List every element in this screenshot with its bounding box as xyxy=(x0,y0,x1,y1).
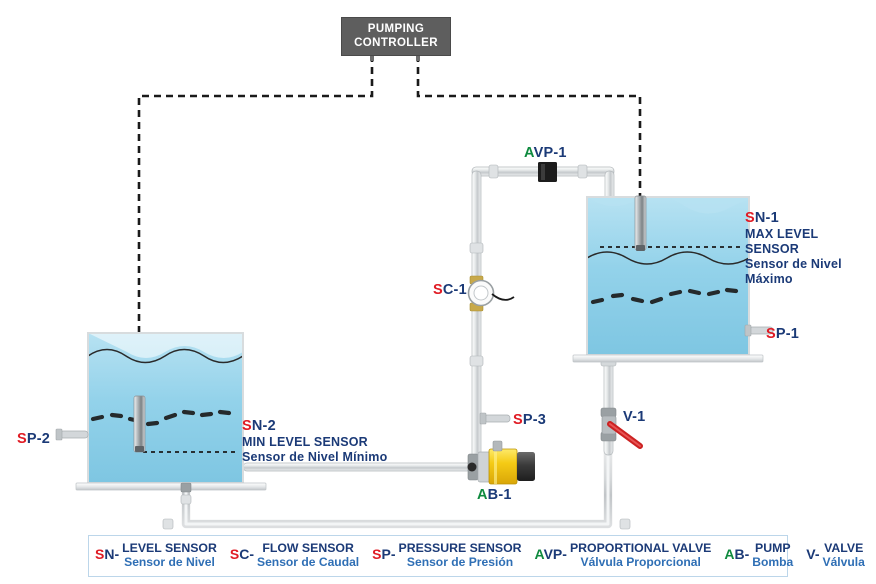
controller-title-line1: PUMPING xyxy=(354,23,438,37)
legend: SN-LEVEL SENSORSensor de NivelSC-FLOW SE… xyxy=(88,535,788,577)
legend-code-prefix: S xyxy=(372,546,381,562)
legend-item-v: V-VALVEVálvula xyxy=(806,542,865,569)
sp1-tag: SP-1 xyxy=(766,326,799,343)
legend-code-rest: N- xyxy=(104,546,119,562)
legend-text-es: Sensor de Nivel xyxy=(122,556,217,570)
sn2-description: MIN LEVEL SENSOR Sensor de Nivel Mínimo xyxy=(242,435,387,465)
sn1-desc-es1: Sensor de Nivel xyxy=(745,257,842,272)
avp1-rest: VP-1 xyxy=(534,145,567,161)
sn1-description: MAX LEVEL SENSOR Sensor de Nivel Máximo xyxy=(745,227,842,287)
control-wiring xyxy=(139,55,640,337)
ab1-rest: B-1 xyxy=(488,487,512,503)
sp2-pressure-sensor[interactable] xyxy=(56,429,88,440)
sn2-rest: N-2 xyxy=(252,418,276,434)
sp2-prefix: S xyxy=(17,431,27,447)
sc1-flow-sensor[interactable] xyxy=(469,276,515,311)
sp1-rest: P-1 xyxy=(776,326,799,342)
sn2-desc-en: MIN LEVEL SENSOR xyxy=(242,435,387,450)
sp3-tag: SP-3 xyxy=(513,412,546,429)
sn1-prefix: S xyxy=(745,210,755,226)
legend-code-rest: C- xyxy=(239,546,254,562)
legend-code-rest: P- xyxy=(382,546,396,562)
legend-text-es: Válvula xyxy=(823,556,865,570)
legend-text-en: PRESSURE SENSOR xyxy=(399,542,522,556)
sn2-desc-es: Sensor de Nivel Mínimo xyxy=(242,450,387,465)
sn1-desc-en2: SENSOR xyxy=(745,242,842,257)
legend-code-rest: VP- xyxy=(544,546,567,562)
legend-item-sn: SN-LEVEL SENSORSensor de Nivel xyxy=(95,542,217,569)
legend-item-avp: AVP-PROPORTIONAL VALVEVálvula Proporcion… xyxy=(535,542,712,569)
sc1-tag: SC-1 xyxy=(433,282,467,299)
controller-title-line2: CONTROLLER xyxy=(354,37,438,51)
legend-text-es: Sensor de Presión xyxy=(399,556,522,570)
legend-code: SC- xyxy=(230,542,254,562)
sn1-desc-en1: MAX LEVEL xyxy=(745,227,842,242)
sp1-prefix: S xyxy=(766,326,776,342)
legend-text: PROPORTIONAL VALVEVálvula Proporcional xyxy=(570,542,711,569)
legend-code-prefix: A xyxy=(535,546,544,562)
left-tank xyxy=(56,333,266,492)
ab1-prefix: A xyxy=(477,487,488,503)
sc1-rest: C-1 xyxy=(443,282,467,298)
v1-tag: V-1 xyxy=(623,409,645,426)
sc1-prefix: S xyxy=(433,282,443,298)
sn2-tag: SN-2 xyxy=(242,418,276,435)
legend-code-prefix: A xyxy=(724,546,734,562)
pumping-system-diagram: PUMPING CONTROLLER SN-1 MAX LEVEL SENSOR… xyxy=(0,0,876,584)
sn1-tag: SN-1 xyxy=(745,210,779,227)
right-tank xyxy=(573,196,773,362)
sp2-tag: SP-2 xyxy=(17,431,50,448)
legend-item-ab: AB-PUMPBomba xyxy=(724,542,793,569)
legend-code: AB- xyxy=(724,542,749,562)
sn2-prefix: S xyxy=(242,418,252,434)
legend-code: SP- xyxy=(372,542,395,562)
legend-code: AVP- xyxy=(535,542,567,562)
legend-text-en: LEVEL SENSOR xyxy=(122,542,217,556)
ab1-tag: AB-1 xyxy=(477,487,512,504)
sp2-rest: P-2 xyxy=(27,431,50,447)
sp3-rest: P-3 xyxy=(523,412,546,428)
legend-code: SN- xyxy=(95,542,119,562)
legend-text-en: VALVE xyxy=(823,542,865,556)
legend-item-sc: SC-FLOW SENSORSensor de Caudal xyxy=(230,542,359,569)
legend-text: FLOW SENSORSensor de Caudal xyxy=(257,542,359,569)
legend-text-es: Sensor de Caudal xyxy=(257,556,359,570)
avp1-proportional-valve[interactable] xyxy=(538,162,557,182)
legend-text-en: PROPORTIONAL VALVE xyxy=(570,542,711,556)
sp3-prefix: S xyxy=(513,412,523,428)
legend-text: PRESSURE SENSORSensor de Presión xyxy=(399,542,522,569)
pumping-controller-box: PUMPING CONTROLLER xyxy=(341,17,451,56)
sp3-pressure-sensor[interactable] xyxy=(480,413,510,424)
legend-text-en: FLOW SENSOR xyxy=(257,542,359,556)
avp1-prefix: A xyxy=(524,145,534,161)
legend-text: PUMPBomba xyxy=(752,542,793,569)
avp1-tag: AVP-1 xyxy=(524,145,567,162)
legend-code-prefix: S xyxy=(95,546,104,562)
legend-code-prefix: S xyxy=(230,546,239,562)
legend-code-rest: V- xyxy=(806,546,819,562)
sn1-rest: N-1 xyxy=(755,210,779,226)
legend-code: V- xyxy=(806,542,819,562)
sn1-desc-es2: Máximo xyxy=(745,272,842,287)
legend-text: LEVEL SENSORSensor de Nivel xyxy=(122,542,217,569)
legend-item-sp: SP-PRESSURE SENSORSensor de Presión xyxy=(372,542,521,569)
legend-text: VALVEVálvula xyxy=(823,542,865,569)
legend-text-es: Bomba xyxy=(752,556,793,570)
legend-text-es: Válvula Proporcional xyxy=(570,556,711,570)
legend-code-rest: B- xyxy=(735,546,750,562)
legend-text-en: PUMP xyxy=(752,542,793,556)
